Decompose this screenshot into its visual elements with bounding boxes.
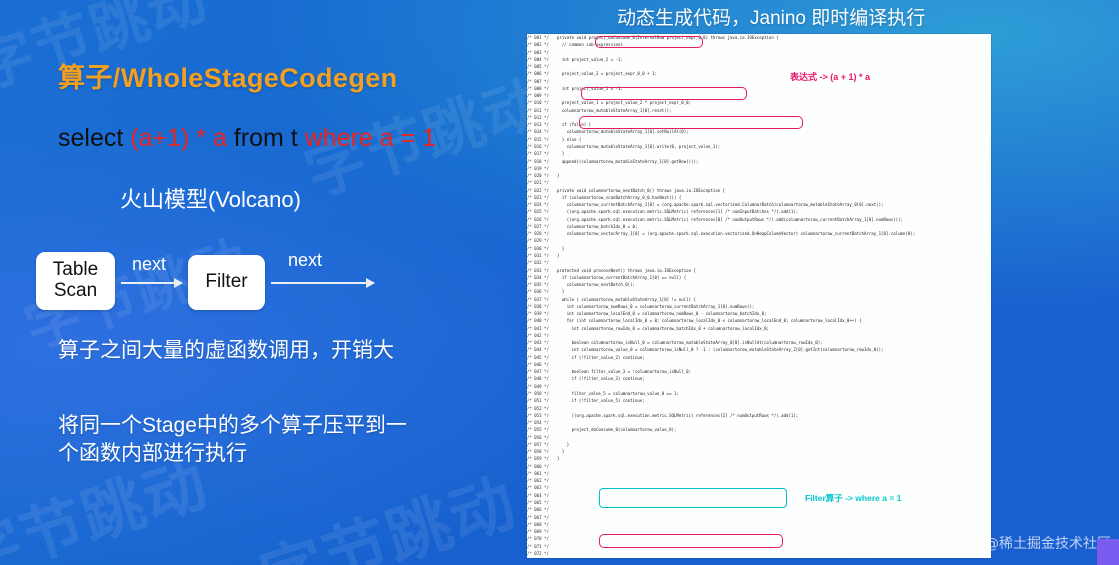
- code-line-number: /* 013 */: [527, 121, 557, 128]
- code-line-text: for (int columnartorow_localIdx_0 = 0; c…: [557, 317, 862, 324]
- code-line: /* 037 */ while ( columnartorow_mutableS…: [527, 296, 991, 303]
- code-line: /* 065 */: [527, 499, 991, 506]
- code-line-number: /* 020 */: [527, 172, 557, 179]
- code-line-number: /* 056 */: [527, 434, 557, 441]
- code-line: /* 057 */ }: [527, 441, 991, 448]
- code-line-number: /* 011 */: [527, 107, 557, 114]
- code-line-number: /* 015 */: [527, 136, 557, 143]
- code-line: /* 047 */ boolean filter_value_3 = !colu…: [527, 368, 991, 375]
- code-line: /* 049 */: [527, 383, 991, 390]
- code-line-number: /* 050 */: [527, 390, 557, 397]
- code-line-text: columnartorow_mutableStateArray_1[0].wri…: [557, 143, 720, 150]
- code-line-text: if (columnartorow_scanBatchArray_0_0.has…: [557, 194, 681, 201]
- code-line: /* 021 */: [527, 179, 991, 186]
- code-line: /* 063 */: [527, 484, 991, 491]
- code-line-number: /* 030 */: [527, 245, 557, 252]
- code-line-number: /* 058 */: [527, 448, 557, 455]
- code-line-number: /* 006 */: [527, 70, 557, 77]
- site-watermark: @稀土掘金技术社区: [985, 533, 1111, 553]
- code-line: /* 022 */private void columnartorow_next…: [527, 187, 991, 194]
- code-line-number: /* 049 */: [527, 383, 557, 390]
- volcano-model-label: 火山模型(Volcano): [120, 182, 301, 214]
- code-line-number: /* 061 */: [527, 470, 557, 477]
- sql-select-keyword: select: [58, 124, 130, 152]
- code-line-number: /* 065 */: [527, 499, 557, 506]
- code-line-number: /* 004 */: [527, 56, 557, 63]
- code-line-text: protected void processNext() throws java…: [557, 267, 696, 274]
- code-line: /* 058 */ }: [527, 448, 991, 455]
- code-line: /* 041 */ int columnartorow_rowIdx_0 = c…: [527, 325, 991, 332]
- code-line-number: /* 007 */: [527, 78, 557, 85]
- code-line-number: /* 047 */: [527, 368, 557, 375]
- arrow-label-next-2: next: [288, 250, 322, 271]
- code-line-number: /* 054 */: [527, 419, 557, 426]
- code-line-number: /* 019 */: [527, 165, 557, 172]
- code-line-number: /* 064 */: [527, 492, 557, 499]
- code-line-number: /* 038 */: [527, 303, 557, 310]
- code-line: /* 062 */: [527, 477, 991, 484]
- code-line: /* 056 */: [527, 434, 991, 441]
- code-line: /* 038 */ int columnartorow_numRows_0 = …: [527, 303, 991, 310]
- code-line: /* 015 */ } else {: [527, 136, 991, 143]
- note-virtual-call-overhead: 算子之间大量的虚函数调用，开销大: [58, 334, 394, 364]
- code-line: /* 009 */: [527, 92, 991, 99]
- code-line-number: /* 045 */: [527, 354, 557, 361]
- code-line: /* 004 */ int project_value_2 = -1;: [527, 56, 991, 63]
- code-line-number: /* 039 */: [527, 310, 557, 317]
- code-line-text: ((org.apache.spark.sql.execution.metric.…: [557, 412, 798, 419]
- code-line: /* 054 */: [527, 419, 991, 426]
- code-line-text: columnartorow_currentBatchArray_1[0] = (…: [557, 201, 883, 208]
- arrowhead-icon: [174, 278, 183, 288]
- generated-code-text: /* 001 */private void project_doConsume_…: [527, 34, 991, 557]
- code-line: /* 036 */ }: [527, 288, 991, 295]
- code-line-number: /* 032 */: [527, 259, 557, 266]
- code-line: /* 070 */: [527, 535, 991, 542]
- code-line: /* 039 */ int columnartorow_localEnd_0 =…: [527, 310, 991, 317]
- code-line-number: /* 048 */: [527, 375, 557, 382]
- corner-decoration: [1097, 539, 1119, 565]
- code-line-number: /* 001 */: [527, 34, 557, 41]
- code-line-number: /* 072 */: [527, 550, 557, 557]
- code-line: /* 066 */: [527, 506, 991, 513]
- code-line-text: }: [557, 245, 564, 252]
- code-line-text: project_value_2 = project_expr_0_0 + 1;: [557, 70, 657, 77]
- code-line-text: project_value_1 = project_value_2 * proj…: [557, 99, 691, 106]
- annotation-expression: 表达式 -> (a + 1) * a: [790, 70, 870, 83]
- code-line-text: boolean columnartorow_isNull_0 = columna…: [557, 339, 823, 346]
- node-filter[interactable]: Filter: [188, 255, 265, 310]
- code-line-text: filter_value_5 = columnartorow_value_0 =…: [557, 390, 679, 397]
- code-line: /* 067 */: [527, 514, 991, 521]
- code-line-number: /* 022 */: [527, 187, 557, 194]
- code-line: /* 060 */: [527, 463, 991, 470]
- code-line: /* 061 */: [527, 470, 991, 477]
- code-line: /* 072 */: [527, 550, 991, 557]
- code-line-text: columnartorow_batchIdx_0 = 0;: [557, 223, 637, 230]
- code-line-number: /* 034 */: [527, 274, 557, 281]
- code-line: /* 032 */: [527, 259, 991, 266]
- code-line: /* 046 */: [527, 361, 991, 368]
- code-line: /* 023 */ if (columnartorow_scanBatchArr…: [527, 194, 991, 201]
- code-line-number: /* 063 */: [527, 484, 557, 491]
- code-line: /* 048 */ if (!filter_value_3) continue;: [527, 375, 991, 382]
- code-line-text: private void columnartorow_nextBatch_0()…: [557, 187, 725, 194]
- code-panel-title: 动态生成代码，Janino 即时编译执行: [617, 3, 925, 30]
- code-line-number: /* 029 */: [527, 237, 557, 244]
- code-line-text: }: [557, 252, 559, 259]
- code-line-text: project_doConsume_0(columnartorow_value_…: [557, 426, 676, 433]
- code-line-text: }: [557, 455, 559, 462]
- code-line-number: /* 023 */: [527, 194, 557, 201]
- code-line-number: /* 017 */: [527, 150, 557, 157]
- annotation-filter: Filter算子 -> where a = 1: [805, 492, 901, 504]
- code-line: /* 040 */ for (int columnartorow_localId…: [527, 317, 991, 324]
- code-line-number: /* 052 */: [527, 405, 557, 412]
- code-line: /* 001 */private void project_doConsume_…: [527, 34, 991, 41]
- code-line-text: if (!filter_value_3) continue;: [557, 375, 645, 382]
- code-line-number: /* 027 */: [527, 223, 557, 230]
- code-line: /* 014 */ columnartorow_mutableStateArra…: [527, 128, 991, 135]
- code-line-number: /* 055 */: [527, 426, 557, 433]
- code-line-number: /* 016 */: [527, 143, 557, 150]
- code-line: /* 042 */: [527, 332, 991, 339]
- code-line-number: /* 041 */: [527, 325, 557, 332]
- code-line: /* 026 */ ((org.apache.spark.sql.executi…: [527, 216, 991, 223]
- code-line-number: /* 005 */: [527, 63, 557, 70]
- code-line-text: if (!filter_value_5) continue;: [557, 397, 645, 404]
- code-line-text: }: [557, 150, 564, 157]
- code-line: /* 059 */}: [527, 455, 991, 462]
- code-line-text: }: [557, 172, 559, 179]
- code-line-text: int columnartorow_localEnd_0 = columnart…: [557, 310, 767, 317]
- code-line: /* 020 */}: [527, 172, 991, 179]
- code-line-number: /* 044 */: [527, 346, 557, 353]
- code-line-number: /* 040 */: [527, 317, 557, 324]
- slide-root: 字节跳动 字节跳动 字节跳动 字节跳动 字节跳动 算子/WholeStageCo…: [0, 0, 1119, 565]
- code-line-number: /* 025 */: [527, 208, 557, 215]
- node-filter-label: Filter: [205, 272, 247, 293]
- code-line-number: /* 008 */: [527, 85, 557, 92]
- code-line-text: int columnartorow_numRows_0 = columnarto…: [557, 303, 754, 310]
- code-line-text: columnartorow_vectorArray_1[0] = (org.ap…: [557, 230, 915, 237]
- code-line-number: /* 066 */: [527, 506, 557, 513]
- code-line-number: /* 071 */: [527, 543, 557, 550]
- sql-statement: select (a+1) * a from t where a = 1: [58, 124, 436, 153]
- code-line: /* 053 */ ((org.apache.spark.sql.executi…: [527, 412, 991, 419]
- code-line-number: /* 042 */: [527, 332, 557, 339]
- code-line: /* 055 */ project_doConsume_0(columnarto…: [527, 426, 991, 433]
- code-line: /* 029 */: [527, 237, 991, 244]
- code-line-number: /* 046 */: [527, 361, 557, 368]
- code-line: /* 016 */ columnartorow_mutableStateArra…: [527, 143, 991, 150]
- code-line-text: int columnartorow_value_0 = columnartoro…: [557, 346, 883, 353]
- code-line: /* 030 */ }: [527, 245, 991, 252]
- node-table-scan[interactable]: Table Scan: [36, 252, 115, 310]
- code-line-text: columnartorow_mutableStateArray_1[0].res…: [557, 107, 672, 114]
- code-line: /* 003 */: [527, 49, 991, 56]
- arrow-label-next-1: next: [132, 254, 166, 275]
- code-line: /* 031 */}: [527, 252, 991, 259]
- code-line-text: ((org.apache.spark.sql.execution.metric.…: [557, 208, 798, 215]
- arrow-scan-to-filter: [121, 282, 182, 284]
- code-line-number: /* 024 */: [527, 201, 557, 208]
- code-line-number: /* 014 */: [527, 128, 557, 135]
- code-line: /* 012 */: [527, 114, 991, 121]
- code-line-number: /* 037 */: [527, 296, 557, 303]
- sql-from-clause: from t: [227, 124, 305, 152]
- code-line: /* 045 */ if (!filter_value_2) continue;: [527, 354, 991, 361]
- code-line-text: if (false) {: [557, 121, 591, 128]
- code-line: /* 002 */ // common sub-expressions: [527, 41, 991, 48]
- code-line-text: // common sub-expressions: [557, 41, 623, 48]
- sql-expression: (a+1) * a: [130, 124, 227, 152]
- code-line: /* 006 */ project_value_2 = project_expr…: [527, 70, 991, 77]
- code-line: /* 005 */: [527, 63, 991, 70]
- page-title: 算子/WholeStageCodegen: [58, 56, 398, 95]
- code-line-number: /* 035 */: [527, 281, 557, 288]
- code-line-number: /* 009 */: [527, 92, 557, 99]
- code-line-number: /* 053 */: [527, 412, 557, 419]
- sql-where-clause: where a = 1: [305, 124, 436, 152]
- generated-code-panel[interactable]: /* 001 */private void project_doConsume_…: [527, 34, 991, 558]
- code-line: /* 050 */ filter_value_5 = columnartorow…: [527, 390, 991, 397]
- code-line-text: columnartorow_nextBatch_0();: [557, 281, 635, 288]
- code-line-text: }: [557, 448, 564, 455]
- code-line: /* 069 */: [527, 528, 991, 535]
- arrowhead-icon: [366, 278, 375, 288]
- code-line-number: /* 033 */: [527, 267, 557, 274]
- node-table-scan-label-line2: Scan: [53, 281, 98, 302]
- code-line-number: /* 051 */: [527, 397, 557, 404]
- code-line: /* 019 */: [527, 165, 991, 172]
- code-line: /* 044 */ int columnartorow_value_0 = co…: [527, 346, 991, 353]
- code-line-number: /* 057 */: [527, 441, 557, 448]
- code-line-number: /* 069 */: [527, 528, 557, 535]
- code-line: /* 007 */: [527, 78, 991, 85]
- node-table-scan-label-line1: Table: [53, 260, 98, 281]
- code-line-number: /* 012 */: [527, 114, 557, 121]
- code-line-text: ((org.apache.spark.sql.execution.metric.…: [557, 216, 903, 223]
- code-line: /* 071 */: [527, 543, 991, 550]
- operator-flow-diagram: Table Scan next Filter next: [36, 252, 376, 314]
- code-line-text: } else {: [557, 136, 581, 143]
- code-line: /* 024 */ columnartorow_currentBatchArra…: [527, 201, 991, 208]
- code-line-number: /* 036 */: [527, 288, 557, 295]
- code-line: /* 018 */ append((columnartorow_mutableS…: [527, 158, 991, 165]
- code-line: /* 017 */ }: [527, 150, 991, 157]
- code-line-number: /* 062 */: [527, 477, 557, 484]
- code-line: /* 008 */ int project_value_1 = -1;: [527, 85, 991, 92]
- code-line-number: /* 043 */: [527, 339, 557, 346]
- code-line-number: /* 070 */: [527, 535, 557, 542]
- code-line-text: private void project_doConsume_0(Interna…: [557, 34, 779, 41]
- code-line-text: while ( columnartorow_mutableStateArray_…: [557, 296, 696, 303]
- code-line-text: int project_value_2 = -1;: [557, 56, 623, 63]
- code-line: /* 010 */ project_value_1 = project_valu…: [527, 99, 991, 106]
- code-line: /* 035 */ columnartorow_nextBatch_0();: [527, 281, 991, 288]
- code-line: /* 064 */: [527, 492, 991, 499]
- code-line: /* 068 */: [527, 521, 991, 528]
- code-line-text: int project_value_1 = -1;: [557, 85, 623, 92]
- code-line-number: /* 068 */: [527, 521, 557, 528]
- code-line-number: /* 059 */: [527, 455, 557, 462]
- code-line-number: /* 018 */: [527, 158, 557, 165]
- code-line-text: }: [557, 288, 564, 295]
- code-line-number: /* 010 */: [527, 99, 557, 106]
- code-line-number: /* 026 */: [527, 216, 557, 223]
- arrow-filter-out: [271, 282, 374, 284]
- code-line-text: int columnartorow_rowIdx_0 = columnartor…: [557, 325, 769, 332]
- code-line-text: boolean filter_value_3 = !columnartorow_…: [557, 368, 691, 375]
- code-line-text: if (columnartorow_currentBatchArray_1[0]…: [557, 274, 686, 281]
- code-line: /* 033 */protected void processNext() th…: [527, 267, 991, 274]
- code-line: /* 013 */ if (false) {: [527, 121, 991, 128]
- code-line-text: append((columnartorow_mutableStateArray_…: [557, 158, 698, 165]
- code-line: /* 034 */ if (columnartorow_currentBatch…: [527, 274, 991, 281]
- code-line-text: columnartorow_mutableStateArray_1[0].set…: [557, 128, 689, 135]
- code-line: /* 011 */ columnartorow_mutableStateArra…: [527, 107, 991, 114]
- code-line-text: if (!filter_value_2) continue;: [557, 354, 645, 361]
- code-line: /* 051 */ if (!filter_value_5) continue;: [527, 397, 991, 404]
- code-line-text: }: [557, 441, 569, 448]
- code-line: /* 052 */: [527, 405, 991, 412]
- code-line-number: /* 003 */: [527, 49, 557, 56]
- code-line-number: /* 060 */: [527, 463, 557, 470]
- note-stage-flatten: 将同一个Stage中的多个算子压平到一个函数内部进行执行: [58, 412, 408, 469]
- code-line: /* 025 */ ((org.apache.spark.sql.executi…: [527, 208, 991, 215]
- code-line-number: /* 028 */: [527, 230, 557, 237]
- code-line: /* 027 */ columnartorow_batchIdx_0 = 0;: [527, 223, 991, 230]
- code-line: /* 028 */ columnartorow_vectorArray_1[0]…: [527, 230, 991, 237]
- code-line-number: /* 021 */: [527, 179, 557, 186]
- code-line: /* 043 */ boolean columnartorow_isNull_0…: [527, 339, 991, 346]
- code-line-number: /* 002 */: [527, 41, 557, 48]
- code-line-number: /* 067 */: [527, 514, 557, 521]
- code-line-number: /* 031 */: [527, 252, 557, 259]
